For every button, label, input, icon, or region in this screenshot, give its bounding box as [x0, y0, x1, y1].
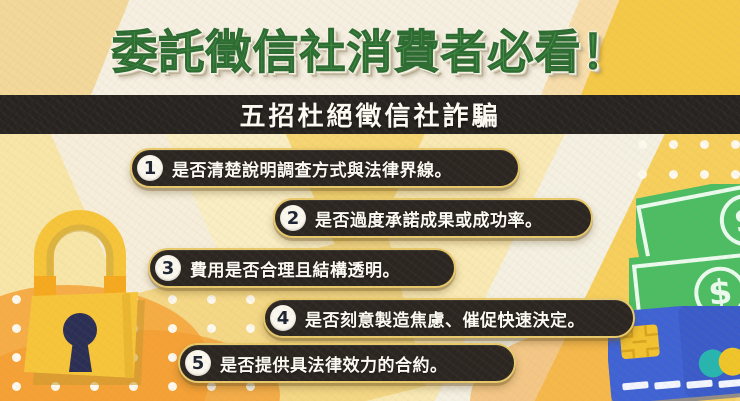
checklist-item-text: 是否清楚說明調查方式與法律界線。 [172, 156, 452, 181]
checklist-item-text: 是否刻意製造焦慮、催促快速決定。 [305, 306, 585, 331]
checklist-item-number: 1 [137, 155, 163, 181]
checklist-item-1[interactable]: 1是否清楚說明調查方式與法律界線。 [130, 148, 520, 188]
poster-subtitle-wrap: 五招杜絕徵信社詐騙 [0, 95, 740, 134]
poster-title-wrap: 委託徵信社消費者必看！ [0, 16, 740, 82]
poster-canvas: $ $ [0, 0, 740, 401]
checklist-item-text: 費用是否合理且結構透明。 [190, 256, 400, 281]
poster-subtitle: 五招杜絕徵信社詐騙 [239, 96, 500, 133]
checklist-item-text: 是否提供具法律效力的合約。 [220, 351, 448, 376]
checklist-item-number: 3 [155, 255, 181, 281]
checklist-item-number: 4 [270, 305, 296, 331]
checklist-item-2[interactable]: 2是否過度承諾成果或成功率。 [273, 198, 593, 238]
checklist-item-3[interactable]: 3費用是否合理且結構透明。 [148, 248, 456, 288]
checklist-item-number: 2 [280, 205, 306, 231]
checklist-item-5[interactable]: 5是否提供具法律效力的合約。 [178, 343, 516, 383]
checklist-item-number: 5 [185, 350, 211, 376]
checklist-item-4[interactable]: 4是否刻意製造焦慮、催促快速決定。 [263, 298, 635, 338]
poster-title: 委託徵信社消費者必看！ [112, 16, 629, 82]
padlock-icon [10, 200, 150, 385]
checklist-item-text: 是否過度承諾成果或成功率。 [315, 206, 543, 231]
